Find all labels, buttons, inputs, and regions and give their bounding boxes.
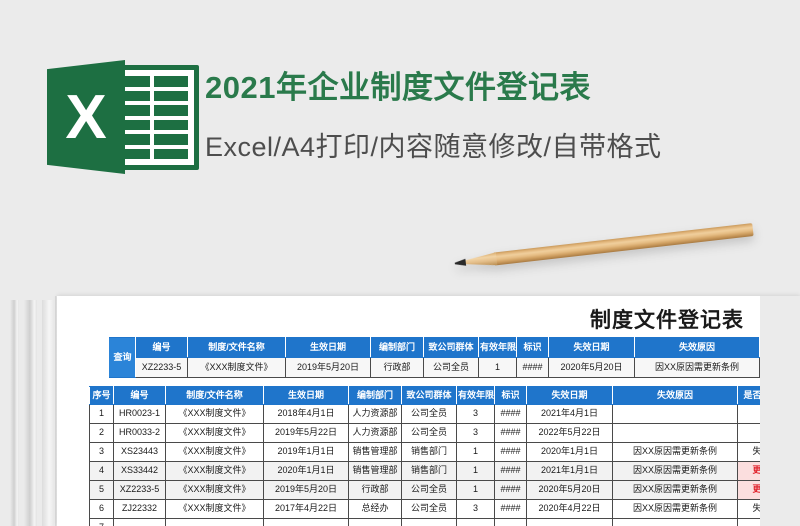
page-right-clip (760, 296, 800, 526)
row-cell-name[interactable]: 《XXX制度文件》 (166, 481, 264, 500)
row-cell-audience[interactable]: 公司全员 (402, 405, 457, 424)
col-index[interactable]: 序号 (90, 387, 114, 405)
pencil-tip (462, 252, 497, 269)
table-body: 1HR0023-1《XXX制度文件》2018年4月1日人力资源部公司全员3###… (90, 405, 800, 526)
col-name[interactable]: 制度/文件名称 (166, 387, 264, 405)
query-cell-valid[interactable]: 1 (479, 358, 517, 378)
row-cell-code[interactable]: ZJ22332 (114, 500, 166, 519)
row-cell-name[interactable]: 《XXX制度文件》 (166, 405, 264, 424)
row-cell-flag[interactable]: #### (495, 443, 527, 462)
table-row: 3XS23443《XXX制度文件》2019年1月1日销售管理部销售部门1####… (90, 443, 800, 462)
banner-title: 2021年企业制度文件登记表 (205, 66, 795, 110)
col-expire[interactable]: 失效日期 (527, 387, 613, 405)
row-cell-index[interactable]: 1 (90, 405, 114, 424)
promo-banner: X 2021年企业制度文件登记表 Excel/A4打印/内容随意修改/自带格式 (0, 52, 800, 192)
row-cell-reason[interactable]: 因XX原因需更新条例 (613, 443, 738, 462)
page-edge-shadow (42, 300, 54, 526)
query-col-valid: 有效年限 (479, 338, 517, 358)
col-flag[interactable]: 标识 (495, 387, 527, 405)
excel-logo-icon: X (47, 60, 199, 174)
page-edge-shadow (10, 300, 19, 526)
row-cell-audience[interactable]: 公司全员 (402, 500, 457, 519)
query-col-flag: 标识 (517, 338, 549, 358)
query-col-code: 编号 (136, 338, 188, 358)
table-row: 2HR0033-2《XXX制度文件》2019年5月22日人力资源部公司全员3##… (90, 424, 800, 443)
query-col-expire: 失效日期 (549, 338, 635, 358)
row-cell-index[interactable]: 4 (90, 462, 114, 481)
row-cell-department[interactable]: 总经办 (349, 500, 402, 519)
row-cell-valid[interactable]: 3 (457, 405, 495, 424)
row-cell-flag[interactable]: #### (495, 405, 527, 424)
query-cell-reason[interactable]: 因XX原因需更新条例 (635, 358, 760, 378)
row-cell-name[interactable]: 《XXX制度文件》 (166, 443, 264, 462)
table-row: 6ZJ22332《XXX制度文件》2017年4月22日总经办公司全员3####2… (90, 500, 800, 519)
row-cell-expire[interactable]: 2020年5月20日 (527, 481, 613, 500)
records-table: 序号 编号 制度/文件名称 生效日期 编制部门 致公司群体 有效年限 标识 失效… (89, 386, 800, 526)
row-cell-code[interactable] (114, 519, 166, 526)
row-cell-name[interactable]: 《XXX制度文件》 (166, 500, 264, 519)
row-cell-effective[interactable]: 2019年1月1日 (264, 443, 349, 462)
table-row: 1HR0023-1《XXX制度文件》2018年4月1日人力资源部公司全员3###… (90, 405, 800, 424)
table-header-row: 序号 编号 制度/文件名称 生效日期 编制部门 致公司群体 有效年限 标识 失效… (90, 387, 800, 405)
row-cell-valid[interactable]: 3 (457, 424, 495, 443)
row-cell-valid[interactable]: 1 (457, 462, 495, 481)
row-cell-expire[interactable]: 2021年4月1日 (527, 405, 613, 424)
row-cell-expire[interactable]: 2022年5月22日 (527, 424, 613, 443)
col-valid[interactable]: 有效年限 (457, 387, 495, 405)
row-cell-audience[interactable]: 销售部门 (402, 443, 457, 462)
query-cell-name[interactable]: 《XXX制度文件》 (188, 358, 286, 378)
query-cell-department[interactable]: 行政部 (371, 358, 424, 378)
query-col-reason: 失效原因 (635, 338, 760, 358)
row-cell-index[interactable]: 7 (90, 519, 114, 526)
excel-logo-letter: X (47, 60, 125, 174)
row-cell-audience[interactable]: 公司全员 (402, 424, 457, 443)
row-cell-expire[interactable] (527, 519, 613, 526)
query-table: 查询 编号 制度/文件名称 生效日期 编制部门 致公司群体 有效年限 标识 失效… (109, 337, 800, 378)
row-cell-expire[interactable]: 2021年1月1日 (527, 462, 613, 481)
row-cell-flag[interactable]: #### (495, 500, 527, 519)
page-edge-shadow (24, 300, 37, 526)
query-col-department: 编制部门 (371, 338, 424, 358)
row-cell-name[interactable]: 《XXX制度文件》 (166, 462, 264, 481)
row-cell-reason[interactable]: 因XX原因需更新条例 (613, 500, 738, 519)
row-cell-flag[interactable] (495, 519, 527, 526)
query-col-effective: 生效日期 (286, 338, 371, 358)
row-cell-audience[interactable]: 公司全员 (402, 481, 457, 500)
row-cell-effective[interactable]: 2019年5月22日 (264, 424, 349, 443)
pencil-body (494, 223, 754, 265)
row-cell-reason[interactable] (613, 519, 738, 526)
row-cell-valid[interactable]: 1 (457, 443, 495, 462)
row-cell-valid[interactable]: 1 (457, 481, 495, 500)
row-cell-reason[interactable]: 因XX原因需更新条例 (613, 481, 738, 500)
row-cell-index[interactable]: 2 (90, 424, 114, 443)
row-cell-department[interactable]: 人力资源部 (349, 424, 402, 443)
banner-subtitle: Excel/A4打印/内容随意修改/自带格式 (205, 124, 795, 170)
excel-logo-grid (115, 76, 188, 159)
row-cell-effective[interactable]: 2020年1月1日 (264, 462, 349, 481)
row-cell-flag[interactable]: #### (495, 462, 527, 481)
row-cell-index[interactable]: 6 (90, 500, 114, 519)
sheet-title: 制度文件登记表 (590, 304, 744, 334)
banner-text-block: 2021年企业制度文件登记表 Excel/A4打印/内容随意修改/自带格式 (205, 66, 795, 170)
row-cell-department[interactable]: 行政部 (349, 481, 402, 500)
col-reason[interactable]: 失效原因 (613, 387, 738, 405)
col-code[interactable]: 编号 (114, 387, 166, 405)
table-row: 7 (90, 519, 800, 526)
row-cell-department[interactable]: 销售管理部 (349, 462, 402, 481)
row-cell-department[interactable] (349, 519, 402, 526)
row-cell-effective[interactable]: 2018年4月1日 (264, 405, 349, 424)
query-corner-label[interactable]: 查询 (110, 338, 136, 378)
query-cell-audience[interactable]: 公司全员 (424, 358, 479, 378)
row-cell-code[interactable]: XS33442 (114, 462, 166, 481)
query-cell-flag[interactable]: #### (517, 358, 549, 378)
query-col-audience: 致公司群体 (424, 338, 479, 358)
col-department[interactable]: 编制部门 (349, 387, 402, 405)
col-audience[interactable]: 致公司群体 (402, 387, 457, 405)
row-cell-flag[interactable]: #### (495, 424, 527, 443)
query-col-name: 制度/文件名称 (188, 338, 286, 358)
row-cell-index[interactable]: 5 (90, 481, 114, 500)
row-cell-effective[interactable] (264, 519, 349, 526)
row-cell-audience[interactable]: 销售部门 (402, 462, 457, 481)
spreadsheet-page: 制度文件登记表 查询 编号 制度/文件名称 生效日期 编制部门 致公司群体 有效… (57, 296, 800, 526)
row-cell-department[interactable]: 人力资源部 (349, 405, 402, 424)
table-row: 5XZ2233-5《XXX制度文件》2019年5月20日行政部公司全员1####… (90, 481, 800, 500)
row-cell-valid[interactable] (457, 519, 495, 526)
query-cell-effective[interactable]: 2019年5月20日 (286, 358, 371, 378)
query-cell-code[interactable]: XZ2233-5 (136, 358, 188, 378)
row-cell-name[interactable] (166, 519, 264, 526)
row-cell-code[interactable]: XZ2233-5 (114, 481, 166, 500)
table-row: 4XS33442《XXX制度文件》2020年1月1日销售管理部销售部门1####… (90, 462, 800, 481)
query-result-row: XZ2233-5 《XXX制度文件》 2019年5月20日 行政部 公司全员 1… (110, 358, 800, 378)
row-cell-reason[interactable] (613, 405, 738, 424)
row-cell-name[interactable]: 《XXX制度文件》 (166, 424, 264, 443)
query-cell-expire[interactable]: 2020年5月20日 (549, 358, 635, 378)
col-effective[interactable]: 生效日期 (264, 387, 349, 405)
row-cell-flag[interactable]: #### (495, 481, 527, 500)
row-cell-reason[interactable] (613, 424, 738, 443)
row-cell-department[interactable]: 销售管理部 (349, 443, 402, 462)
row-cell-expire[interactable]: 2020年1月1日 (527, 443, 613, 462)
row-cell-index[interactable]: 3 (90, 443, 114, 462)
row-cell-code[interactable]: HR0033-2 (114, 424, 166, 443)
row-cell-effective[interactable]: 2019年5月20日 (264, 481, 349, 500)
query-header-row: 查询 编号 制度/文件名称 生效日期 编制部门 致公司群体 有效年限 标识 失效… (110, 338, 800, 358)
row-cell-reason[interactable]: 因XX原因需更新条例 (613, 462, 738, 481)
row-cell-code[interactable]: HR0023-1 (114, 405, 166, 424)
pencil-lead (454, 259, 466, 267)
row-cell-audience[interactable] (402, 519, 457, 526)
screenshot-root: X 2021年企业制度文件登记表 Excel/A4打印/内容随意修改/自带格式 … (0, 0, 800, 526)
row-cell-valid[interactable]: 3 (457, 500, 495, 519)
row-cell-effective[interactable]: 2017年4月22日 (264, 500, 349, 519)
row-cell-code[interactable]: XS23443 (114, 443, 166, 462)
row-cell-expire[interactable]: 2020年4月22日 (527, 500, 613, 519)
pencil-illustration (454, 221, 754, 275)
